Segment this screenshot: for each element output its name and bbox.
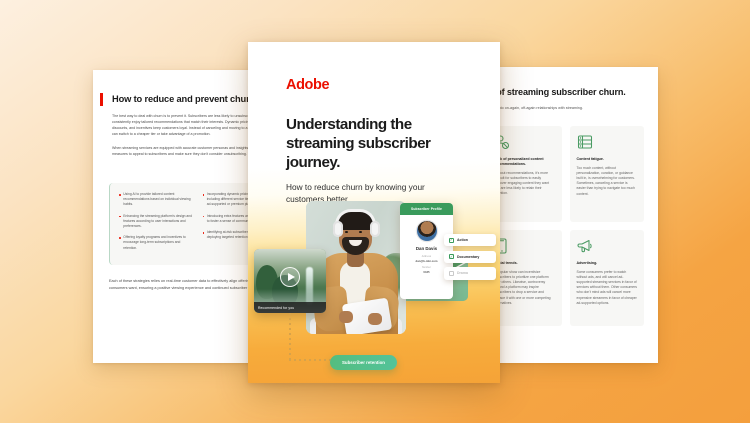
person-hand-right [368, 313, 382, 325]
play-icon[interactable] [280, 267, 300, 287]
cover-illustration: Recommended for you Subscriber Pro [248, 187, 500, 383]
card-body: Too much content, without personalizatio… [577, 166, 638, 197]
bullet-text: Offering loyalty programs and incentives… [123, 235, 193, 251]
content-list-icon [577, 134, 593, 150]
list-item: Enhancing the streaming platform's desig… [119, 214, 194, 230]
dotted-connector-vertical [289, 313, 291, 359]
person-eye-left [345, 231, 348, 233]
list-item: Using AI to provide tailored content rec… [119, 192, 194, 208]
bullet-dot-icon [119, 216, 121, 218]
checkbox-checked-icon[interactable]: ✓ [449, 254, 454, 259]
churn-sources-grid: Lack of personalized content recommendat… [487, 126, 644, 326]
bullet-dot-icon [119, 194, 121, 196]
avatar [417, 221, 437, 241]
ebook-preview-stage: How to reduce and prevent churn. The bes… [0, 0, 750, 423]
card-body: Some consumers prefer to watch without a… [577, 270, 638, 306]
headphone-cup-left [333, 221, 343, 237]
dotted-connector-horizontal [289, 359, 331, 361]
card-body: Without recommendations, it's more diffi… [494, 171, 555, 197]
card-title: Content fatigue. [577, 157, 638, 162]
bullet-dot-icon [119, 237, 121, 239]
headphone-cup-right [370, 221, 380, 237]
list-item: Offering loyalty programs and incentives… [119, 235, 194, 251]
bullet-dot-icon [203, 216, 205, 218]
recommended-video-card[interactable]: Recommended for you [254, 249, 326, 313]
genre-chip-documentary[interactable]: ✓ Documentary [444, 251, 496, 263]
card-title: Advertising. [577, 261, 638, 266]
checkbox-checked-icon[interactable]: ✓ [449, 238, 454, 243]
genre-preferences-list: ✓ Action ✓ Documentary Drama [444, 234, 496, 284]
genre-label: Action [457, 238, 468, 242]
red-accent-bar [100, 93, 103, 106]
bullet-text: Enhancing the streaming platform's desig… [123, 214, 193, 230]
person-hand-left [339, 311, 353, 323]
adobe-logo: Adobe [286, 78, 500, 93]
subscriber-retention-pill[interactable]: Subscriber retention [330, 355, 397, 370]
card-title: Social trends. [494, 261, 555, 266]
video-card-label: Recommended for you [254, 302, 326, 313]
genre-chip-action[interactable]: ✓ Action [444, 234, 496, 246]
bullet-dot-icon [203, 194, 205, 196]
profile-card-header: Subscriber Profile [400, 203, 453, 215]
strategies-column-left: Using AI to provide tailored content rec… [119, 192, 194, 265]
churn-card-advertising: Advertising. Some consumers prefer to wa… [570, 230, 645, 326]
churn-card-content-fatigue: Content fatigue. Too much content, witho… [570, 126, 645, 222]
person-eye-right [359, 231, 362, 233]
play-triangle [288, 273, 295, 281]
card-body: A popular show can incentivize subscribe… [494, 270, 555, 306]
card-title: Lack of personalized content recommendat… [494, 157, 555, 167]
bullet-dot-icon [203, 232, 205, 234]
genre-label: Drama [457, 271, 468, 275]
bullet-text: Using AI to provide tailored content rec… [123, 192, 193, 208]
genre-chip-drama[interactable]: Drama [444, 267, 496, 279]
cover-title: Understanding the streaming subscriber j… [286, 115, 476, 172]
genre-label: Documentary [457, 255, 479, 259]
megaphone-icon [577, 238, 593, 254]
checkbox-unchecked-icon[interactable] [449, 271, 454, 276]
document-page-right[interactable]: Sources of streaming subscriber churn. W… [473, 67, 658, 363]
ebook-cover-page[interactable]: Adobe Understanding the streaming subscr… [248, 42, 500, 383]
